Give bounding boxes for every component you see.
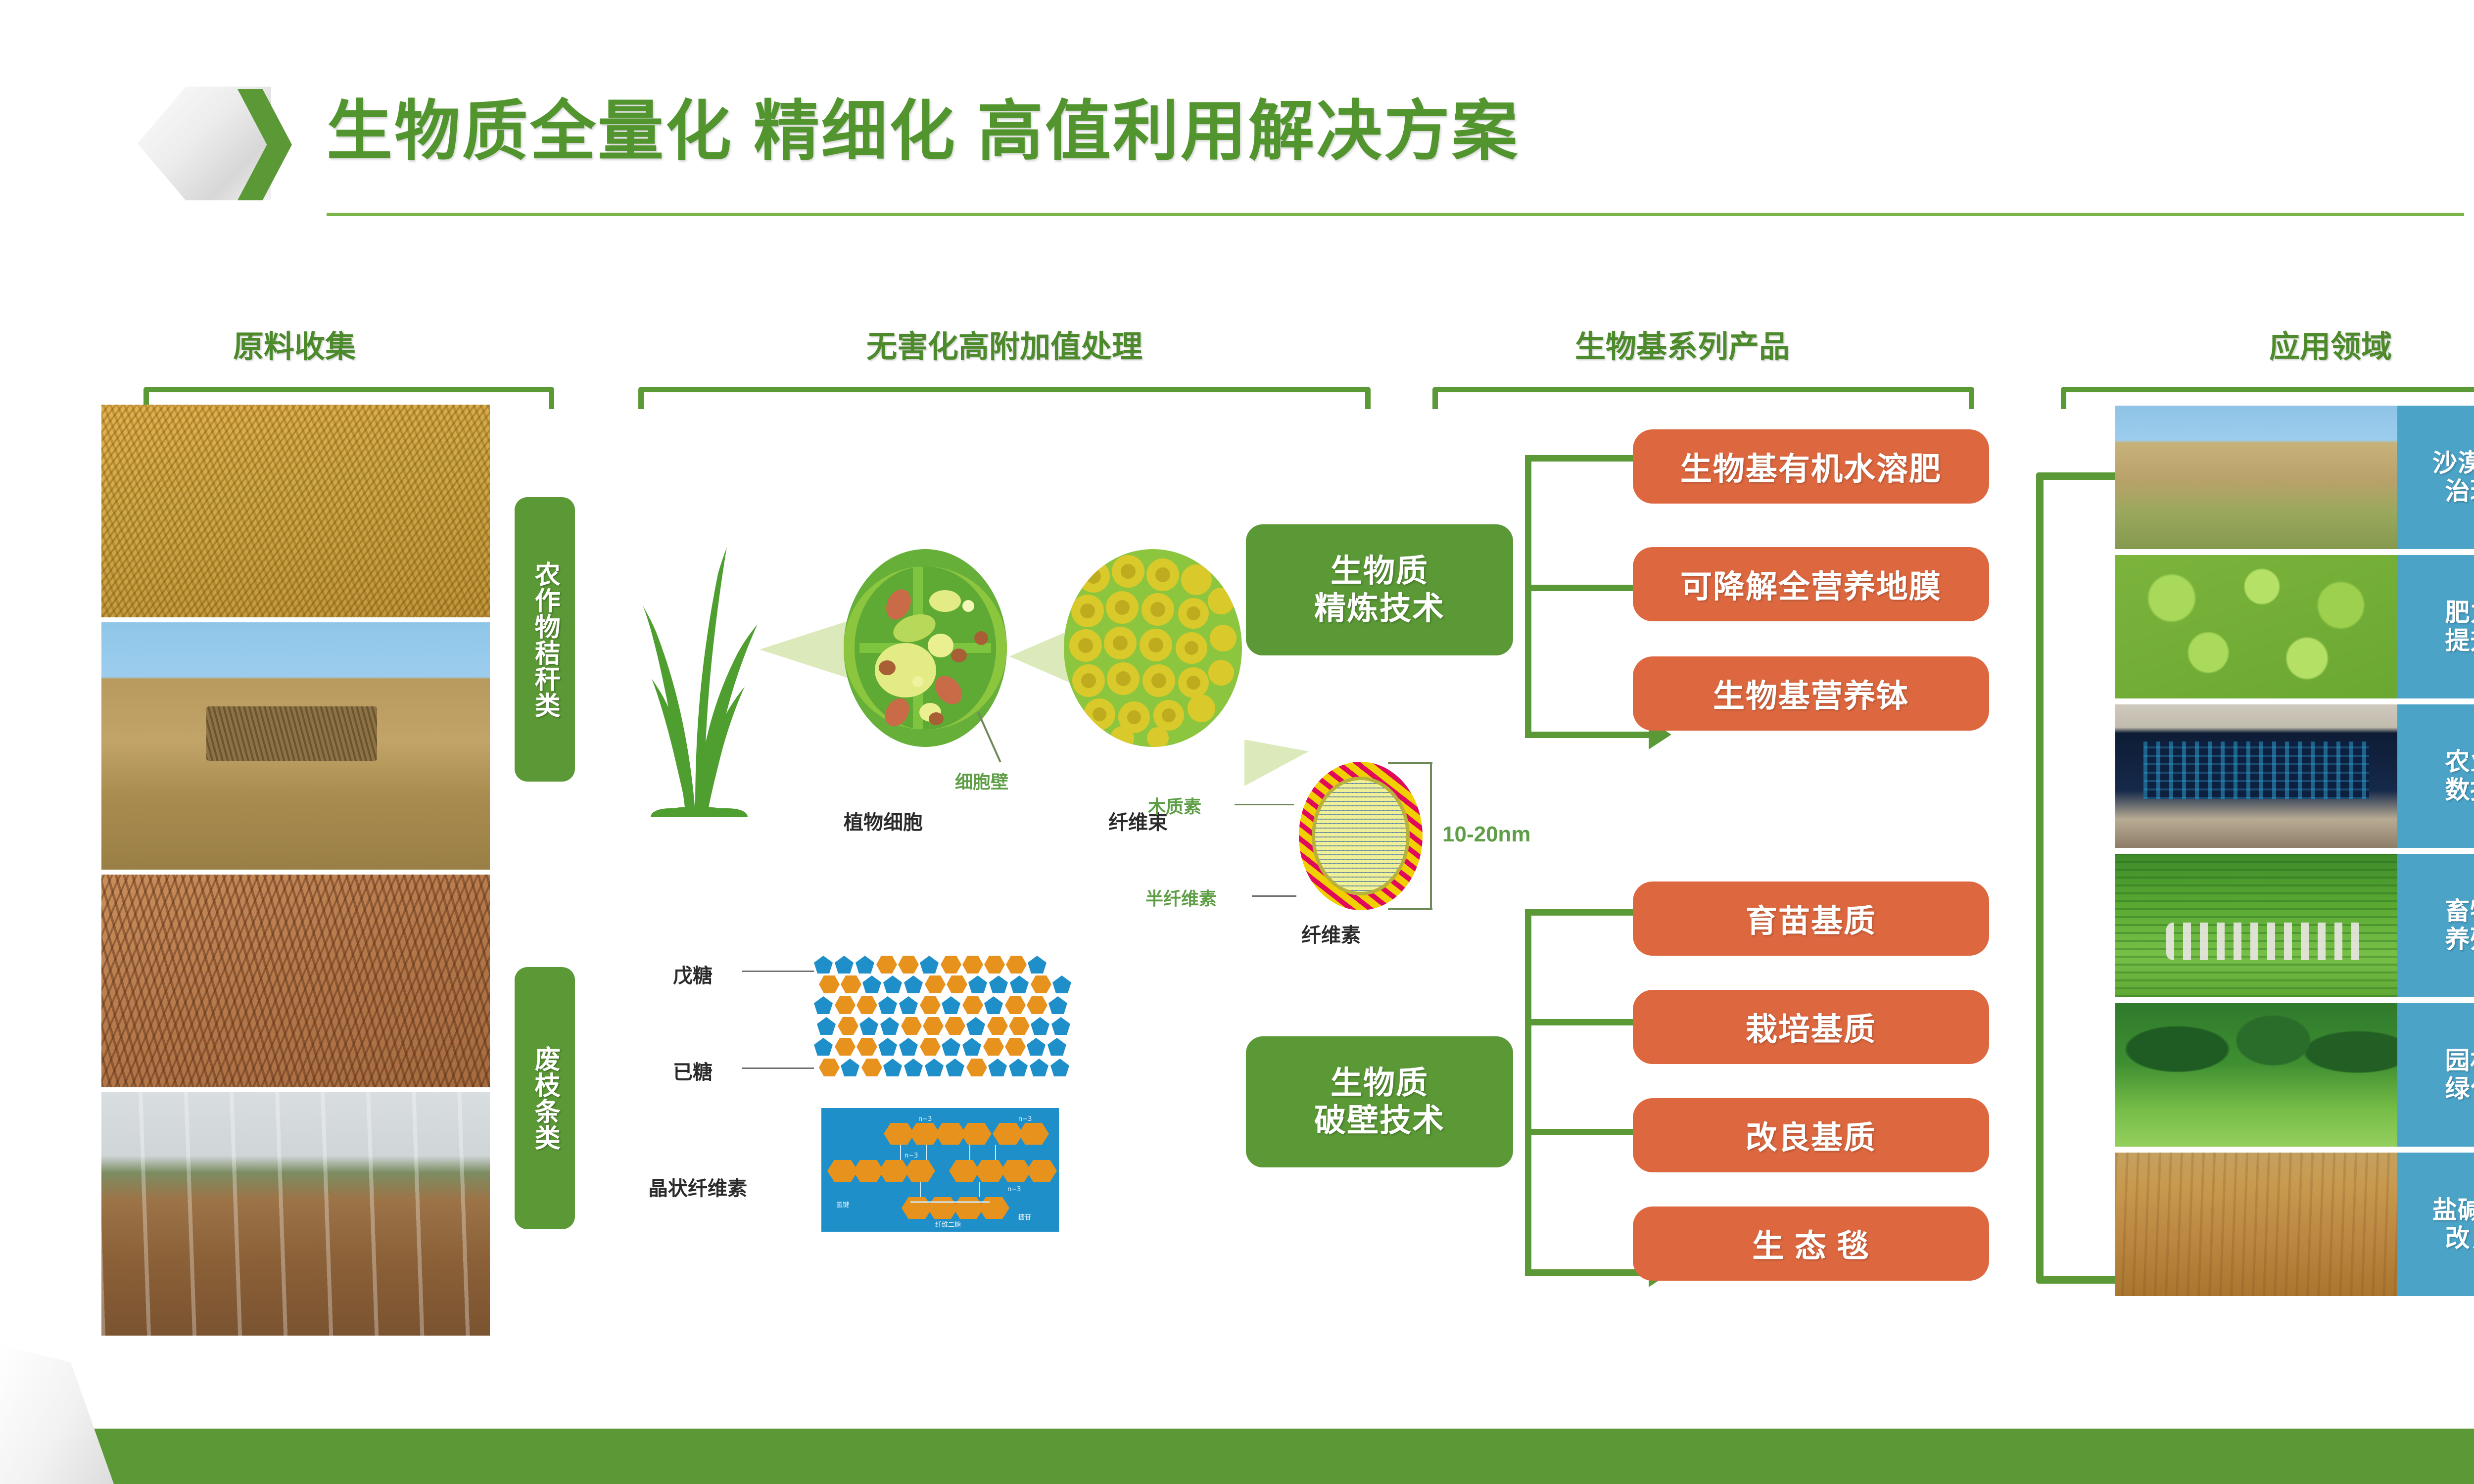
tech-label-line2: 精炼技术 xyxy=(1314,590,1445,628)
section-header-collection: 原料收集 xyxy=(171,322,418,366)
photo-sheep-grassland xyxy=(2115,854,2397,997)
application-label-fertility: 肥力 提升 xyxy=(2397,555,2474,698)
tech-label-line2: 破壁技术 xyxy=(1314,1102,1445,1140)
svg-text:n−3: n−3 xyxy=(1007,1186,1021,1193)
application-row-desertification[interactable]: 沙漠化 治理 xyxy=(2115,406,2474,549)
photo-desert-control xyxy=(2115,406,2397,549)
app-line1: 农业 xyxy=(2445,748,2474,777)
connector-stem-cellbreaking xyxy=(1525,909,1531,1275)
sugar-chain-diagram xyxy=(814,955,1091,1103)
page-title: 生物质全量化 精细化 高值利用解决方案 xyxy=(327,99,1520,165)
photo-data-control-room xyxy=(2115,704,2397,848)
connector-arm-3 xyxy=(1525,732,1649,738)
svg-text:纤维二糖: 纤维二糖 xyxy=(935,1221,961,1229)
product-label: 栽培基质 xyxy=(1746,1004,1876,1050)
application-row-landscaping[interactable]: 园林 绿化 xyxy=(2115,1003,2474,1147)
magnify-beam-1 xyxy=(760,621,849,678)
svg-text:n−3: n−3 xyxy=(904,1152,918,1159)
product-pill-ecological-blanket[interactable]: 生 态 毯 xyxy=(1633,1206,1989,1281)
leader-line-hemicellulose xyxy=(1252,895,1296,897)
application-row-livestock[interactable]: 畜牧 养殖 xyxy=(2115,854,2474,997)
svg-text:n−3: n−3 xyxy=(918,1115,932,1123)
connector-arm-4 xyxy=(1525,909,1649,916)
bottom-bar xyxy=(0,1429,2474,1484)
leader-line-lignin xyxy=(1235,804,1294,805)
app-line2: 改良 xyxy=(2445,1224,2474,1253)
app-line1: 肥力 xyxy=(2445,599,2474,627)
connector-arm-1 xyxy=(1525,455,1649,462)
product-label: 生 态 毯 xyxy=(1752,1221,1870,1266)
label-cell-wall: 细胞壁 xyxy=(955,768,1008,793)
app-line1: 盐碱地 xyxy=(2432,1196,2474,1225)
dimension-tick-bottom xyxy=(1388,908,1432,910)
photo-park-trees xyxy=(2115,1003,2397,1147)
magnify-beam-2 xyxy=(1009,631,1069,682)
product-label: 可降解全营养地膜 xyxy=(1680,561,1942,607)
cellulose-cross-section xyxy=(1299,762,1423,910)
leader-line-hexose xyxy=(742,1067,814,1069)
bottom-corner-notch xyxy=(0,1345,114,1484)
application-row-fertility[interactable]: 肥力 提升 xyxy=(2115,555,2474,698)
plant-cell-illustration xyxy=(844,549,1007,747)
product-label: 生物基营养钵 xyxy=(1713,671,1909,716)
feedstock-tab-label: 废枝条类 xyxy=(531,1046,559,1151)
application-label-landscaping: 园林 绿化 xyxy=(2397,1003,2474,1147)
label-cellulose: 纤维素 xyxy=(1301,919,1361,948)
photo-cabbage-field xyxy=(2115,555,2397,698)
svg-text:氢键: 氢键 xyxy=(836,1202,849,1209)
feedstock-tab-crop-straw[interactable]: 农作物秸秆类 xyxy=(515,497,575,782)
tech-box-cellbreaking[interactable]: 生物质 破壁技术 xyxy=(1246,1036,1513,1167)
section-header-applications: 应用领域 xyxy=(2167,322,2474,366)
app-line1: 沙漠化 xyxy=(2432,449,2474,478)
product-pill-improvement-substrate[interactable]: 改良基质 xyxy=(1633,1098,1989,1172)
photo-corn-straw xyxy=(101,405,490,617)
label-hexose: 已糖 xyxy=(673,1056,713,1085)
tech-label-line1: 生物质 xyxy=(1331,1065,1428,1102)
connector-arm-6 xyxy=(1525,1129,1649,1135)
connector-arm-5 xyxy=(1525,1019,1649,1025)
app-line2: 绿化 xyxy=(2445,1075,2474,1104)
application-label-saline-alkali: 盐碱地 改良 xyxy=(2397,1153,2474,1296)
feedstock-tab-waste-branches[interactable]: 废枝条类 xyxy=(515,967,575,1229)
app-line2: 治理 xyxy=(2445,477,2474,506)
label-lignin: 木质素 xyxy=(1148,792,1201,818)
application-row-saline-alkali[interactable]: 盐碱地 改良 xyxy=(2115,1153,2474,1296)
feedstock-photo-column xyxy=(101,405,490,1336)
bracket-products xyxy=(1432,387,1974,409)
app-line1: 畜牧 xyxy=(2445,897,2474,926)
dimension-line xyxy=(1430,762,1432,910)
label-pentose: 戊糖 xyxy=(673,960,713,988)
product-pill-cultivation-substrate[interactable]: 栽培基质 xyxy=(1633,990,1989,1064)
dimension-tick-top xyxy=(1388,762,1432,764)
product-label: 改良基质 xyxy=(1746,1113,1876,1158)
product-pill-water-soluble-fertilizer[interactable]: 生物基有机水溶肥 xyxy=(1633,429,1989,504)
application-label-agri-data: 农业 数据 xyxy=(2397,704,2474,848)
product-pill-seedling-substrate[interactable]: 育苗基质 xyxy=(1633,881,1989,956)
app-line2: 养殖 xyxy=(2445,926,2474,954)
label-fiber-dimension: 10-20nm xyxy=(1442,822,1531,847)
photo-vineyard-pruning xyxy=(101,1092,490,1336)
section-header-processing: 无害化高附加值处理 xyxy=(742,322,1267,366)
svg-text:n−3: n−3 xyxy=(1018,1115,1032,1123)
application-label-desertification: 沙漠化 治理 xyxy=(2397,406,2474,549)
connector-arm-7 xyxy=(1525,1269,1649,1276)
app-line1: 园林 xyxy=(2445,1047,2474,1075)
label-crystalline-cellulose: 晶状纤维素 xyxy=(648,1172,747,1201)
application-row-agri-data[interactable]: 农业 数据 xyxy=(2115,704,2474,848)
bracket-processing xyxy=(638,387,1371,409)
grass-plant-icon xyxy=(621,544,784,821)
bracket-applications-group xyxy=(2036,472,2118,1284)
tech-box-refining[interactable]: 生物质 精炼技术 xyxy=(1246,524,1513,655)
leader-line-cell-wall xyxy=(977,712,1001,762)
app-line2: 提升 xyxy=(2445,627,2474,655)
label-hemicellulose: 半纤维素 xyxy=(1145,884,1217,910)
app-line2: 数据 xyxy=(2445,776,2474,805)
fiber-bundle-illustration xyxy=(1064,549,1242,747)
product-pill-nutrition-pot[interactable]: 生物基营养钵 xyxy=(1633,656,1989,731)
product-pill-biodegradable-mulch-film[interactable]: 可降解全营养地膜 xyxy=(1633,547,1989,621)
leader-line-pentose xyxy=(742,971,814,972)
tech-label-line1: 生物质 xyxy=(1331,553,1428,590)
label-plant-cell: 植物细胞 xyxy=(844,806,923,835)
section-header-products: 生物基系列产品 xyxy=(1450,322,1915,366)
photo-saline-soil xyxy=(2115,1153,2397,1296)
connector-arm-2 xyxy=(1525,585,1649,591)
feedstock-tab-label: 农作物秸秆类 xyxy=(531,561,559,718)
product-label: 育苗基质 xyxy=(1746,896,1876,941)
crystalline-cellulose-diagram: n−3n−3 n−3n−3 氢键糖苷 纤维二糖 xyxy=(821,1108,1059,1232)
connector-stem-refining xyxy=(1525,455,1531,738)
photo-straw-bale-field xyxy=(101,622,490,870)
product-label: 生物基有机水溶肥 xyxy=(1680,444,1942,489)
svg-text:糖苷: 糖苷 xyxy=(1018,1213,1031,1221)
infographic-root: 生物质全量化 精细化 高值利用解决方案 原料收集 无害化高附加值处理 生物基系列… xyxy=(0,0,2474,1484)
title-divider xyxy=(327,213,2464,216)
photo-pruned-branches xyxy=(101,875,490,1087)
application-label-livestock: 畜牧 养殖 xyxy=(2397,854,2474,997)
